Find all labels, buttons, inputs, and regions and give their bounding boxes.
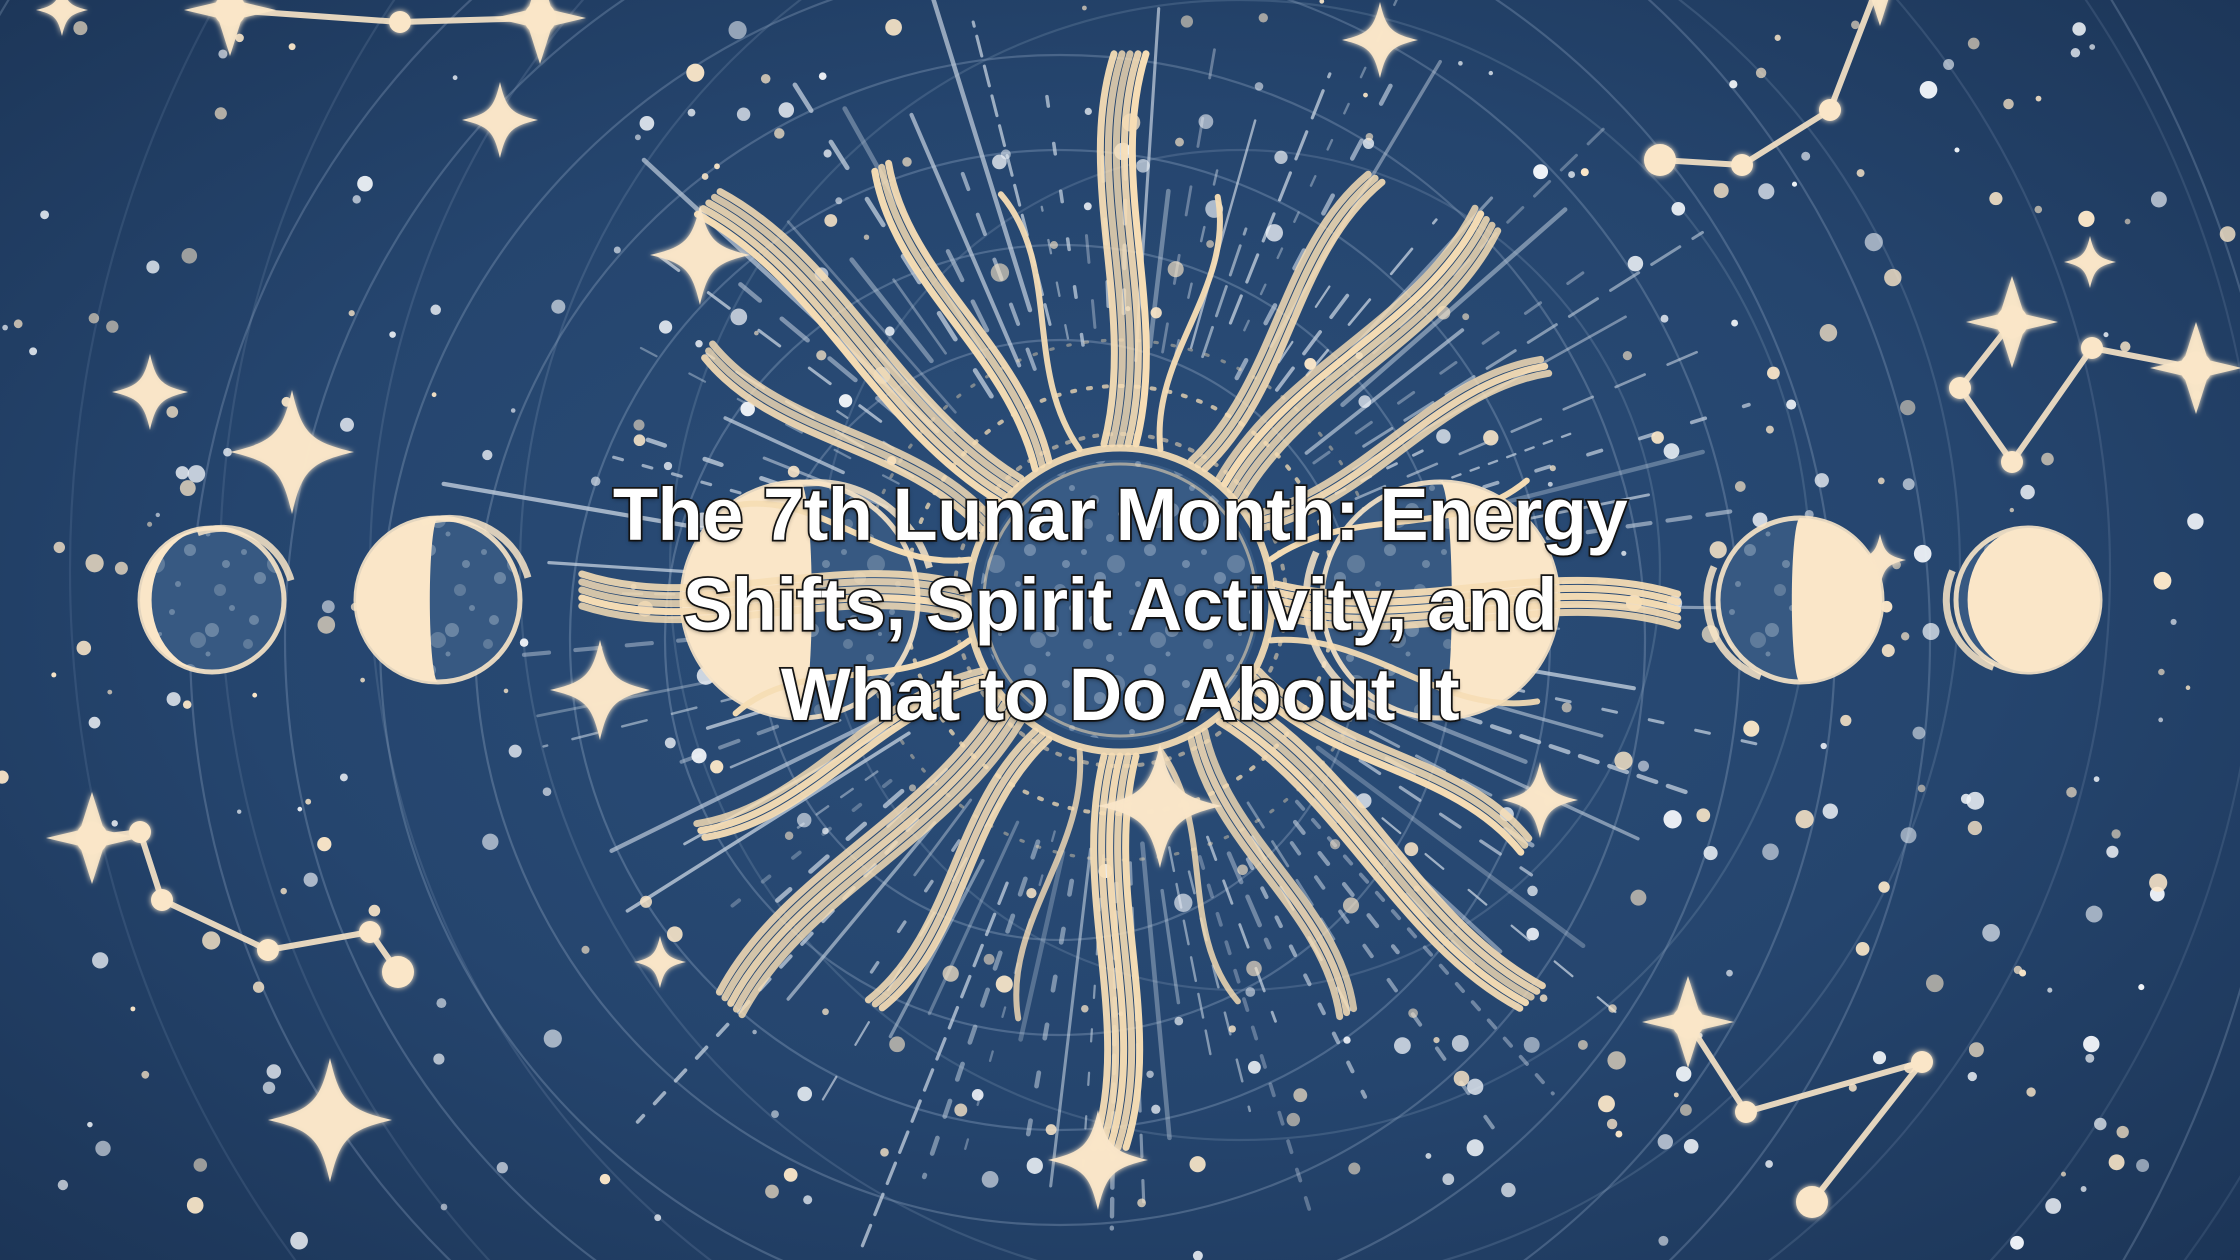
lunar-month-banner: The 7th Lunar Month: Energy Shifts, Spir… xyxy=(0,0,2240,1260)
celestial-illustration xyxy=(0,0,2240,1260)
